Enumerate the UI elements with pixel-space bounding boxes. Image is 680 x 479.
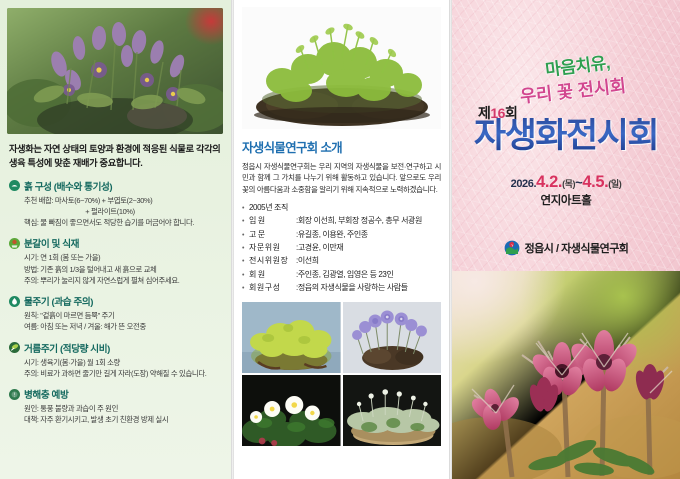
cultivation-tip-block: 분갈이 및 식재시기: 연 1회 (봄 또는 가을)방법: 기존 흙의 1/3을… <box>7 236 224 286</box>
cultivation-tip-title: 분갈이 및 식재 <box>24 236 79 250</box>
middle-panel-society-intro: 자생식물연구회 소개 정읍시 자생식물연구회는 우리 지역의 자생식물을 보전·… <box>234 0 449 479</box>
society-info-item: •2005년 조직 <box>242 202 441 215</box>
cultivation-tip-line: + 펄라이트(10%) <box>24 206 224 217</box>
middle-panel-heading: 자생식물연구회 소개 <box>242 138 441 156</box>
cultivation-tip-block: 물주기 (과습 주의)원칙: "겉흙이 마르면 듬뿍" 주기여름: 아침 또는 … <box>7 294 224 333</box>
middle-panel-top-photo <box>242 7 441 129</box>
water-drop-icon <box>9 296 20 307</box>
cultivation-tip-header: 물주기 (과습 주의) <box>9 294 224 308</box>
brochure-trifold: 자생화는 자연 상태의 토양과 환경에 적응된 식물로 각각의 생육 특성에 맞… <box>0 0 680 479</box>
cultivation-tip-line: 핵심: 물 빠짐이 좋으면서도 적당한 습기를 머금어야 합니다. <box>24 217 224 228</box>
left-panel-cultivation-guide: 자생화는 자연 상태의 토양과 환경에 적응된 식물로 각각의 생육 특성에 맞… <box>0 0 231 479</box>
left-panel-intro-text: 자생화는 자연 상태의 토양과 환경에 적응된 식물로 각각의 생육 특성에 맞… <box>7 143 224 171</box>
cultivation-tips-list: 흙 구성 (배수와 통기성)추천 배합: 마사토(6~70%) + 부엽토(2~… <box>7 179 224 426</box>
date-end-dayofweek: (일) <box>608 179 621 189</box>
cultivation-tip-title: 병해충 예방 <box>24 387 68 401</box>
society-info-list: •2005년 조직•임 원 : 회장 이선희, 부회장 정공수, 총무 서광원•… <box>242 202 441 295</box>
society-info-value: 이선희 <box>298 255 319 268</box>
cultivation-tip-header: 흙 구성 (배수와 통기성) <box>9 179 224 193</box>
cultivation-tip-line: 시기: 생육기(봄·가을) 월 1회 소량 <box>24 357 224 368</box>
society-info-label: 전시위원장 <box>249 255 296 268</box>
society-info-value: 고경윤, 이만재 <box>298 242 343 255</box>
cultivation-tip-block: 흙 구성 (배수와 통기성)추천 배합: 마사토(6~70%) + 부엽토(2~… <box>7 179 224 229</box>
society-info-item: •임 원 : 회장 이선희, 부회장 정공수, 총무 서광원 <box>242 215 441 228</box>
cultivation-tip-block: 거름주기 (적당량 시비)시기: 생육기(봄·가을) 월 1회 소량주의: 비료… <box>7 341 224 380</box>
cover-flower-photo <box>452 271 680 479</box>
event-date: 2026.4.2.(목)~4.5.(일) <box>452 173 680 192</box>
jeongeup-city-logo-icon <box>504 240 520 256</box>
main-title: 자생화전시회 <box>452 118 680 153</box>
cultivation-tip-title: 물주기 (과습 주의) <box>24 294 93 308</box>
fertilizer-icon <box>9 342 20 353</box>
grid-photo-4 <box>343 375 442 446</box>
cultivation-tip-line: 대책: 자주 환기시키고, 발생 초기 친환경 방제 실시 <box>24 414 224 425</box>
date-end: 4.5. <box>582 173 608 191</box>
tagline-group: 마음치유, 우리 꽃 전시회 <box>452 52 680 103</box>
cultivation-tip-line: 방법: 기존 흙의 1/3을 털어내고 새 흙으로 교체 <box>24 264 224 275</box>
society-info-item: •자문위원 : 고경윤, 이만재 <box>242 242 441 255</box>
cultivation-tip-header: !병해충 예방 <box>9 387 224 401</box>
grid-photo-2 <box>343 302 442 373</box>
host-organization-row: 정읍시 / 자생식물연구회 <box>452 240 680 256</box>
repot-icon <box>9 238 20 249</box>
right-panel-cover: 마음치유, 우리 꽃 전시회 제16회 자생화전시회 자생화전시회 2026.4… <box>452 0 680 479</box>
cultivation-tip-line: 주의: 뿌리가 눌리지 않게 자연스럽게 펼쳐 심어주세요. <box>24 275 224 286</box>
society-info-value: 유길종, 이용완, 주인종 <box>298 229 368 242</box>
middle-panel-photo-grid <box>242 302 441 446</box>
bullet-dot-icon: • <box>242 215 249 228</box>
society-info-value: 정읍의 자생식물을 사랑하는 사람들 <box>298 282 408 295</box>
bullet-dot-icon: • <box>242 229 249 242</box>
cultivation-tip-line: 추천 배합: 마사토(6~70%) + 부엽토(2~30%) <box>24 195 224 206</box>
pest-shield-icon: ! <box>9 389 20 400</box>
soil-icon <box>9 180 20 191</box>
cultivation-tip-line: 원칙: "겉흙이 마르면 듬뿍" 주기 <box>24 310 224 321</box>
bullet-dot-icon: • <box>242 282 249 295</box>
host-organization-label: 정읍시 / 자생식물연구회 <box>525 240 629 256</box>
bullet-dot-icon: • <box>242 269 249 282</box>
society-info-label: 회 원 <box>249 269 296 282</box>
grid-photo-1 <box>242 302 341 373</box>
cultivation-tip-lines: 시기: 생육기(봄·가을) 월 1회 소량주의: 비료가 과하면 줄기만 길게 … <box>9 357 224 380</box>
society-info-value: 회장 이선희, 부회장 정공수, 총무 서광원 <box>298 215 422 228</box>
society-info-label: 고 문 <box>249 229 296 242</box>
date-start: 4.2. <box>536 173 562 191</box>
cultivation-tip-title: 거름주기 (적당량 시비) <box>24 341 110 355</box>
society-info-label: 자문위원 <box>249 242 296 255</box>
grid-photo-3 <box>242 375 341 446</box>
cultivation-tip-line: 시기: 연 1회 (봄 또는 가을) <box>24 252 224 263</box>
cultivation-tip-header: 거름주기 (적당량 시비) <box>9 341 224 355</box>
society-info-item: •회원구성 : 정읍의 자생식물을 사랑하는 사람들 <box>242 282 441 295</box>
date-start-dayofweek: (목) <box>562 179 575 189</box>
cultivation-tip-line: 주의: 비료가 과하면 줄기만 길게 자라(도장) 약해질 수 있습니다. <box>24 368 224 379</box>
society-info-item: •전시위원장 : 이선희 <box>242 255 441 268</box>
event-venue: 연지아트홀 <box>452 192 680 208</box>
cultivation-tip-lines: 원칙: "겉흙이 마르면 듬뿍" 주기여름: 아침 또는 저녁 / 겨울: 해가… <box>9 310 224 333</box>
society-info-label: 2005년 조직 <box>249 202 296 215</box>
society-info-item: •회 원 : 주인종, 김광열, 임영은 등 23인 <box>242 269 441 282</box>
society-info-value: 주인종, 김광열, 임영은 등 23인 <box>298 269 394 282</box>
middle-panel-intro-paragraph: 정읍시 자생식물연구회는 우리 지역의 자생식물을 보전·연구하고 시민과 함께… <box>242 161 441 195</box>
cultivation-tip-line: 여름: 아침 또는 저녁 / 겨울: 해가 뜬 오전중 <box>24 321 224 332</box>
bullet-dot-icon: • <box>242 202 249 215</box>
bullet-dot-icon: • <box>242 255 249 268</box>
left-panel-photo <box>7 8 223 134</box>
cultivation-tip-header: 분갈이 및 식재 <box>9 236 224 250</box>
cultivation-tip-lines: 시기: 연 1회 (봄 또는 가을)방법: 기존 흙의 1/3을 털어내고 새 … <box>9 252 224 286</box>
cultivation-tip-line: 원인: 통풍 불량과 과습이 주 원인 <box>24 403 224 414</box>
society-info-label: 회원구성 <box>249 282 296 295</box>
society-info-item: •고 문 : 유길종, 이용완, 주인종 <box>242 229 441 242</box>
cultivation-tip-lines: 추천 배합: 마사토(6~70%) + 부엽토(2~30%)+ 펄라이트(10%… <box>9 195 224 229</box>
bullet-dot-icon: • <box>242 242 249 255</box>
cultivation-tip-title: 흙 구성 (배수와 통기성) <box>24 179 112 193</box>
cultivation-tip-block: !병해충 예방원인: 통풍 불량과 과습이 주 원인대책: 자주 환기시키고, … <box>7 387 224 426</box>
date-year: 2026. <box>511 178 537 190</box>
cultivation-tip-lines: 원인: 통풍 불량과 과습이 주 원인대책: 자주 환기시키고, 발생 초기 친… <box>9 403 224 426</box>
society-info-label: 임 원 <box>249 215 296 228</box>
